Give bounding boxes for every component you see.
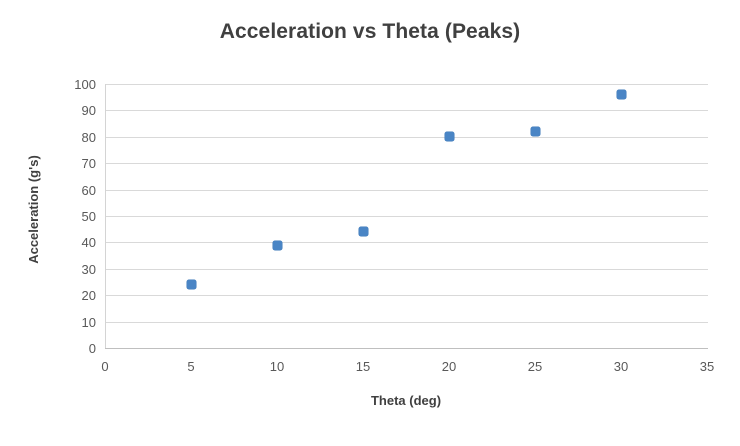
gridline — [106, 295, 708, 296]
x-axis-tick-label: 0 — [85, 360, 125, 373]
x-axis-tick-label: 5 — [171, 360, 211, 373]
gridline — [106, 163, 708, 164]
plot-area — [105, 84, 708, 348]
gridline — [106, 269, 708, 270]
y-axis-tick-label: 70 — [56, 157, 96, 170]
gridline — [106, 190, 708, 191]
gridline — [106, 84, 708, 85]
chart-title: Acceleration vs Theta (Peaks) — [0, 20, 740, 44]
x-axis-tick-label: 30 — [601, 360, 641, 373]
x-axis-tick-label: 15 — [343, 360, 383, 373]
y-axis-tick-label: 10 — [56, 316, 96, 329]
y-axis-tick-label: 90 — [56, 104, 96, 117]
gridline — [106, 110, 708, 111]
y-axis-tick-label: 0 — [56, 342, 96, 355]
y-axis-tick-label: 100 — [56, 78, 96, 91]
y-axis-tick-label: 30 — [56, 263, 96, 276]
gridline — [106, 242, 708, 243]
x-axis-tick-label: 25 — [515, 360, 555, 373]
scatter-chart: Acceleration vs Theta (Peaks) Accelerati… — [0, 0, 740, 446]
x-axis-line — [105, 348, 708, 349]
y-axis-tick-label: 80 — [56, 131, 96, 144]
y-axis-tick-label: 50 — [56, 210, 96, 223]
x-axis-tick-label: 35 — [687, 360, 727, 373]
x-axis-tick-label: 10 — [257, 360, 297, 373]
x-axis-tick-label: 20 — [429, 360, 469, 373]
gridline — [106, 322, 708, 323]
y-axis-tick-label: 40 — [56, 236, 96, 249]
gridline — [106, 137, 708, 138]
y-axis-tick-label: 20 — [56, 289, 96, 302]
y-axis-title: Acceleration (g's) — [20, 0, 46, 446]
gridline — [106, 216, 708, 217]
y-axis-title-text: Acceleration (g's) — [26, 155, 41, 264]
x-axis-title: Theta (deg) — [105, 393, 707, 408]
y-axis-tick-label: 60 — [56, 184, 96, 197]
